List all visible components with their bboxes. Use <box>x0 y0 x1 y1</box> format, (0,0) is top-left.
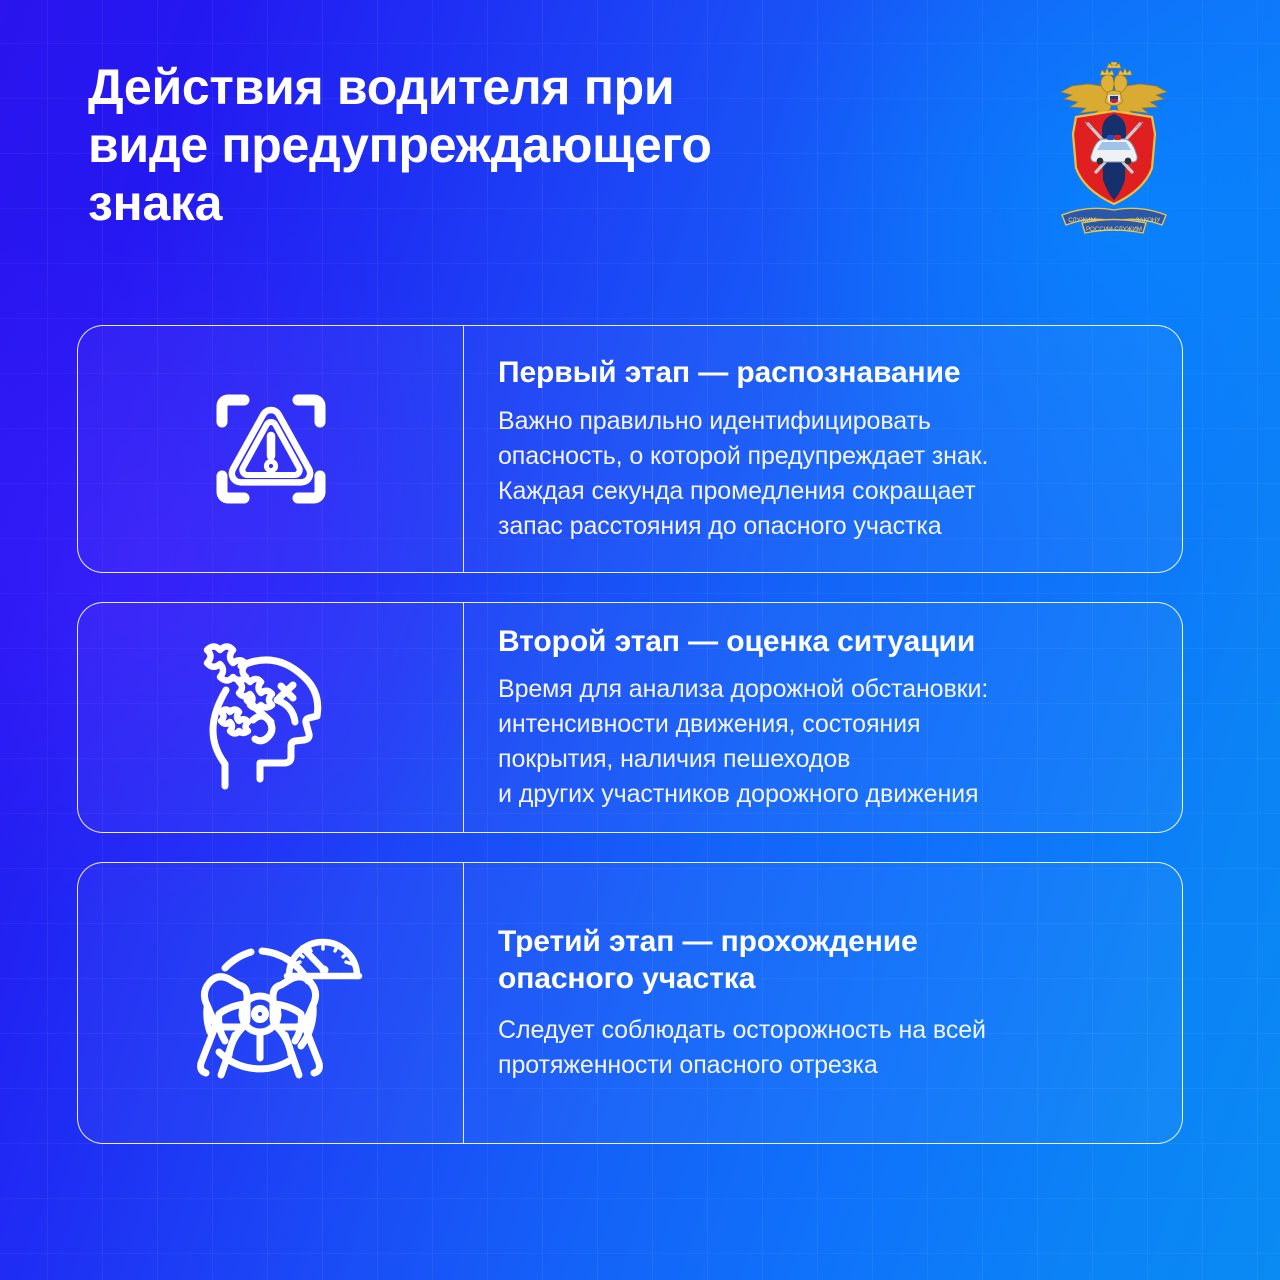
header: Действия водителя при виде предупреждающ… <box>88 58 1220 238</box>
page-title: Действия водителя при виде предупреждающ… <box>88 58 712 232</box>
step-3-icon-cell <box>78 863 464 1143</box>
step-card-2: Второй этап — оценка ситуации Время для … <box>77 602 1183 833</box>
step-3-heading: Третий этап — прохождение опасного участ… <box>498 923 1152 997</box>
step-2-text: Время для анализа дорожной обстановки: и… <box>498 672 1152 812</box>
steering-wheel-hands-speedometer-icon <box>163 896 378 1111</box>
step-1-text: Важно правильно идентифицировать опаснос… <box>498 404 1152 544</box>
step-2-icon-cell <box>78 603 464 832</box>
step-1-body: Первый этап — распознавание Важно правил… <box>464 326 1182 572</box>
infographic-poster: Действия водителя при виде предупреждающ… <box>0 0 1280 1280</box>
step-2-body: Второй этап — оценка ситуации Время для … <box>464 603 1182 832</box>
scan-warning-triangle-icon <box>176 354 366 544</box>
step-1-icon-cell <box>78 326 464 572</box>
step-2-heading: Второй этап — оценка ситуации <box>498 623 1152 660</box>
emblem-motto-part-2: РОССИИ СЛУЖИМ <box>1086 226 1142 233</box>
head-puzzle-thinking-icon <box>181 628 361 808</box>
emblem-motto-part-1: СЛУЖИМ <box>1068 217 1096 224</box>
step-3-body: Третий этап — прохождение опасного участ… <box>464 863 1182 1143</box>
step-1-heading: Первый этап — распознавание <box>498 354 1152 391</box>
step-card-3: Третий этап — прохождение опасного участ… <box>77 862 1183 1144</box>
steps-list: Первый этап — распознавание Важно правил… <box>77 325 1183 1144</box>
step-card-1: Первый этап — распознавание Важно правил… <box>77 325 1183 573</box>
step-3-text: Следует соблюдать осторожность на всей п… <box>498 1013 1152 1083</box>
gibdd-emblem-icon: СЛУЖИМ РОССИИ СЛУЖИМ ЗАКОНУ <box>1052 62 1176 238</box>
emblem-motto-part-3: ЗАКОНУ <box>1136 217 1161 224</box>
